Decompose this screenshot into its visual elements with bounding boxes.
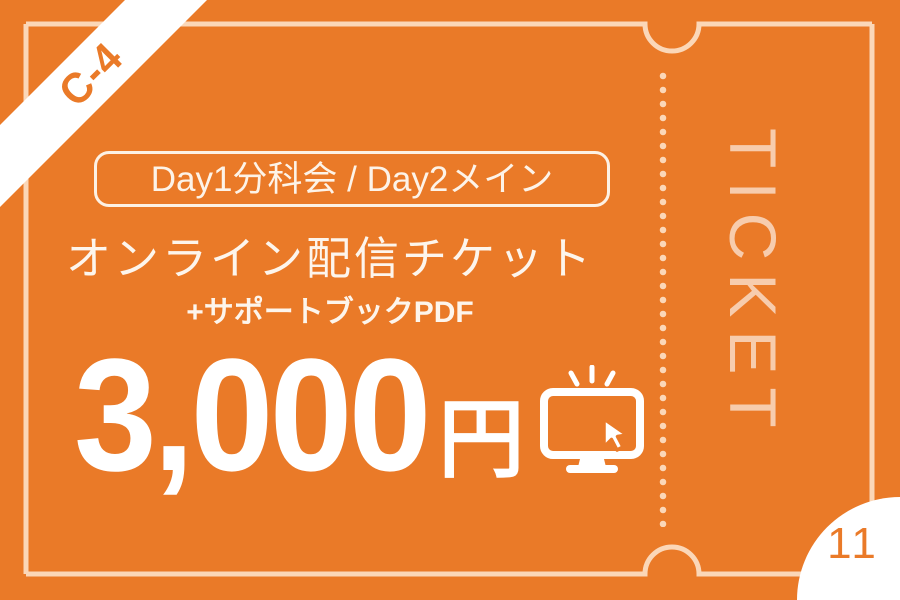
corner-ribbon: C-4 [0,0,300,300]
price-currency-unit: 円 [438,404,524,478]
price-amount: 3,000 [74,353,428,478]
corner-ribbon-band: C-4 [0,0,218,222]
corner-number-label: 11 [826,522,880,566]
corner-ribbon-label: C-4 [31,35,130,134]
ticket-vertical-word: TICKET [720,128,786,508]
monitor-with-cursor-icon [538,365,646,480]
page-subtitle: +サポートブックPDF [0,296,660,329]
price-row: 3,000 円 [74,348,646,478]
perforation-line [659,72,667,527]
ticket-card: TICKET Day1分科会 / Day2メイン オンライン配信チケット +サポ… [0,0,900,600]
